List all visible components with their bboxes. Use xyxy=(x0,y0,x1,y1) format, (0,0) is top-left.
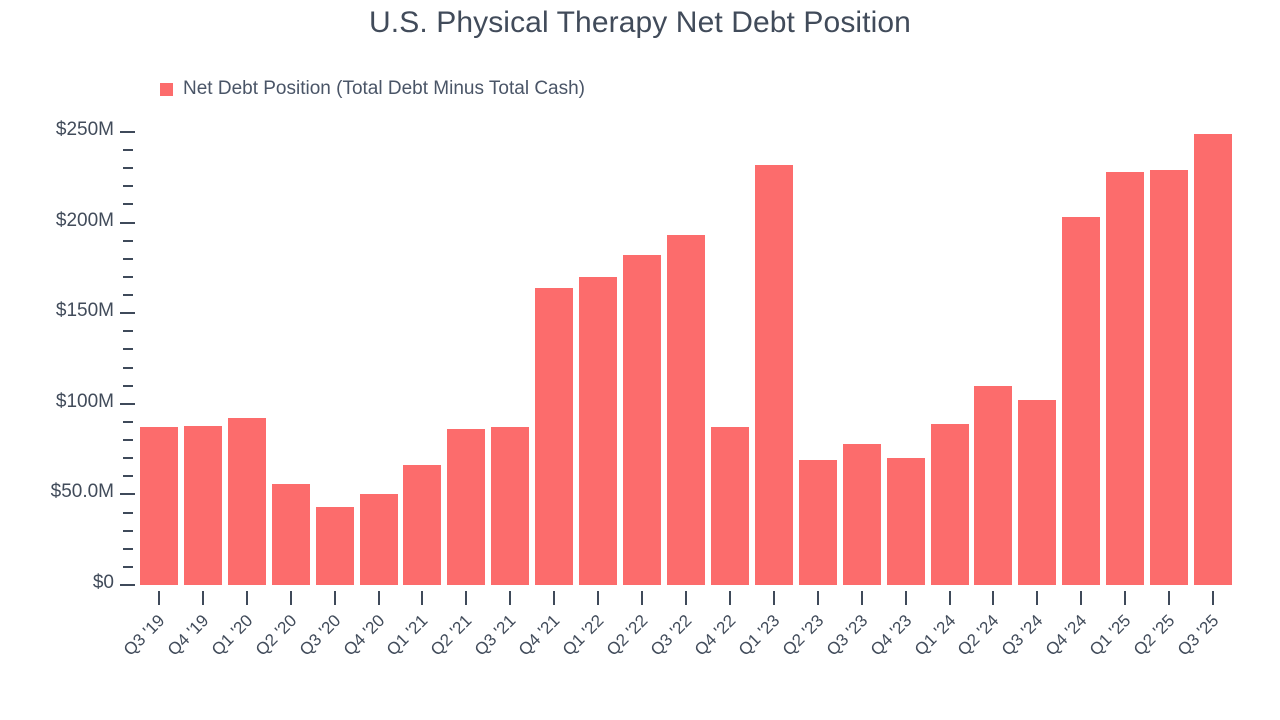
bar-slot xyxy=(488,132,532,585)
x-axis-label-slot: Q1 '24 xyxy=(928,609,972,714)
tick-mark xyxy=(123,439,133,441)
tick-mark xyxy=(1212,591,1214,605)
bar-slot xyxy=(928,132,972,585)
tick-mark xyxy=(123,203,133,205)
bar-slot xyxy=(444,132,488,585)
tick-mark xyxy=(334,591,336,605)
tick-mark xyxy=(246,591,248,605)
tick-mark xyxy=(861,591,863,605)
bar-slot xyxy=(1015,132,1059,585)
bar[interactable] xyxy=(1106,172,1144,585)
x-axis-label-slot: Q3 '20 xyxy=(313,609,357,714)
bar[interactable] xyxy=(316,507,354,585)
tick-mark xyxy=(120,222,135,224)
y-axis-tick-label: $200M xyxy=(56,210,114,232)
y-axis-tick-label: $0 xyxy=(93,572,114,594)
tick-mark xyxy=(685,591,687,605)
x-axis-label-slot: Q1 '21 xyxy=(401,609,445,714)
tick-mark xyxy=(817,591,819,605)
y-axis-tick-label: $50.0M xyxy=(51,481,114,503)
tick-mark xyxy=(120,312,135,314)
bar[interactable] xyxy=(403,465,441,585)
x-axis-label-slot: Q1 '25 xyxy=(1103,609,1147,714)
bar[interactable] xyxy=(931,424,969,585)
bar[interactable] xyxy=(1150,170,1188,585)
tick-mark xyxy=(123,149,133,151)
x-axis-label-slot: Q2 '24 xyxy=(972,609,1016,714)
y-axis-tick-label: $100M xyxy=(56,391,114,413)
bar-slot xyxy=(796,132,840,585)
tick-mark xyxy=(992,591,994,605)
bar[interactable] xyxy=(887,458,925,585)
plot-area xyxy=(137,132,1235,585)
bar-slot xyxy=(884,132,928,585)
x-axis-label-slot: Q3 '24 xyxy=(1015,609,1059,714)
tick-mark xyxy=(123,240,133,242)
tick-mark xyxy=(123,421,133,423)
bar[interactable] xyxy=(1194,134,1232,585)
legend-swatch-icon xyxy=(160,83,173,96)
x-axis-label-slot: Q4 '23 xyxy=(884,609,928,714)
tick-mark xyxy=(123,566,133,568)
bar[interactable] xyxy=(184,426,222,585)
bar[interactable] xyxy=(974,386,1012,585)
tick-mark xyxy=(123,475,133,477)
tick-mark xyxy=(421,591,423,605)
tick-mark xyxy=(158,591,160,605)
bar[interactable] xyxy=(1062,217,1100,585)
bar-slot xyxy=(708,132,752,585)
x-axis-labels: Q3 '19Q4 '19Q1 '20Q2 '20Q3 '20Q4 '20Q1 '… xyxy=(137,609,1235,714)
bar[interactable] xyxy=(667,235,705,585)
x-axis-label-slot: Q2 '22 xyxy=(620,609,664,714)
tick-mark xyxy=(465,591,467,605)
bar-slot xyxy=(1103,132,1147,585)
tick-mark xyxy=(773,591,775,605)
tick-mark xyxy=(1124,591,1126,605)
tick-mark xyxy=(597,591,599,605)
x-axis-label-slot: Q4 '19 xyxy=(181,609,225,714)
bar-slot xyxy=(1059,132,1103,585)
bar[interactable] xyxy=(711,427,749,585)
x-axis-label-slot: Q1 '23 xyxy=(752,609,796,714)
x-axis-label-slot: Q4 '24 xyxy=(1059,609,1103,714)
tick-mark xyxy=(553,591,555,605)
tick-mark xyxy=(123,258,133,260)
bar-slot xyxy=(840,132,884,585)
bar-slot xyxy=(137,132,181,585)
tick-mark xyxy=(123,185,133,187)
bar[interactable] xyxy=(755,165,793,585)
bar-series xyxy=(137,132,1235,585)
bar-slot xyxy=(972,132,1016,585)
bar[interactable] xyxy=(579,277,617,585)
bar-slot xyxy=(1147,132,1191,585)
bar-slot xyxy=(664,132,708,585)
x-axis-label-slot: Q3 '23 xyxy=(840,609,884,714)
tick-mark xyxy=(120,131,135,133)
tick-mark xyxy=(120,493,135,495)
tick-mark xyxy=(202,591,204,605)
tick-mark xyxy=(123,548,133,550)
chart-container: U.S. Physical Therapy Net Debt Position … xyxy=(0,0,1280,720)
legend-item-label: Net Debt Position (Total Debt Minus Tota… xyxy=(183,78,585,100)
tick-mark xyxy=(123,276,133,278)
tick-mark xyxy=(290,591,292,605)
tick-mark xyxy=(509,591,511,605)
bar-slot xyxy=(313,132,357,585)
tick-mark xyxy=(378,591,380,605)
tick-mark xyxy=(729,591,731,605)
bar[interactable] xyxy=(623,255,661,585)
x-axis-label-slot: Q4 '20 xyxy=(357,609,401,714)
tick-mark xyxy=(123,348,133,350)
bar-slot xyxy=(181,132,225,585)
tick-mark xyxy=(123,530,133,532)
tick-mark xyxy=(123,512,133,514)
x-axis-label-slot: Q4 '21 xyxy=(532,609,576,714)
x-axis-label-slot: Q3 '19 xyxy=(137,609,181,714)
bar-slot xyxy=(576,132,620,585)
bar[interactable] xyxy=(535,288,573,585)
bar-slot xyxy=(357,132,401,585)
bar[interactable] xyxy=(1018,400,1056,585)
tick-mark xyxy=(123,167,133,169)
bar-slot xyxy=(401,132,445,585)
tick-mark xyxy=(1080,591,1082,605)
y-axis: $0$50.0M$100M$150M$200M$250M xyxy=(0,0,137,720)
x-axis-label-slot: Q3 '21 xyxy=(488,609,532,714)
bar[interactable] xyxy=(799,460,837,585)
y-axis-tick-label: $150M xyxy=(56,300,114,322)
tick-mark xyxy=(123,385,133,387)
bar-slot xyxy=(752,132,796,585)
bar-slot xyxy=(269,132,313,585)
x-axis-label-slot: Q1 '20 xyxy=(225,609,269,714)
x-axis-label-slot: Q2 '20 xyxy=(269,609,313,714)
tick-mark xyxy=(1036,591,1038,605)
bar[interactable] xyxy=(447,429,485,585)
bar-slot xyxy=(225,132,269,585)
tick-mark xyxy=(123,457,133,459)
y-axis-tick-label: $250M xyxy=(56,119,114,141)
x-axis-label-slot: Q1 '22 xyxy=(576,609,620,714)
bar[interactable] xyxy=(272,484,310,585)
bar-slot xyxy=(620,132,664,585)
x-axis-label-slot: Q2 '23 xyxy=(796,609,840,714)
bar-slot xyxy=(1191,132,1235,585)
bar[interactable] xyxy=(491,427,529,585)
tick-mark xyxy=(641,591,643,605)
tick-mark xyxy=(120,403,135,405)
tick-mark xyxy=(123,330,133,332)
bar[interactable] xyxy=(140,427,178,585)
tick-mark xyxy=(123,294,133,296)
chart-title: U.S. Physical Therapy Net Debt Position xyxy=(0,6,1280,40)
x-axis-label-slot: Q3 '25 xyxy=(1191,609,1235,714)
tick-mark xyxy=(1168,591,1170,605)
tick-mark xyxy=(949,591,951,605)
bar[interactable] xyxy=(228,418,266,585)
bar[interactable] xyxy=(843,444,881,585)
tick-mark xyxy=(123,367,133,369)
tick-mark xyxy=(905,591,907,605)
chart-legend: Net Debt Position (Total Debt Minus Tota… xyxy=(160,78,585,100)
x-axis-label-slot: Q3 '22 xyxy=(664,609,708,714)
bar-slot xyxy=(532,132,576,585)
x-axis-label-slot: Q2 '25 xyxy=(1147,609,1191,714)
bar[interactable] xyxy=(360,494,398,585)
x-axis-label-slot: Q2 '21 xyxy=(444,609,488,714)
tick-mark xyxy=(120,584,135,586)
x-axis-label-slot: Q4 '22 xyxy=(708,609,752,714)
